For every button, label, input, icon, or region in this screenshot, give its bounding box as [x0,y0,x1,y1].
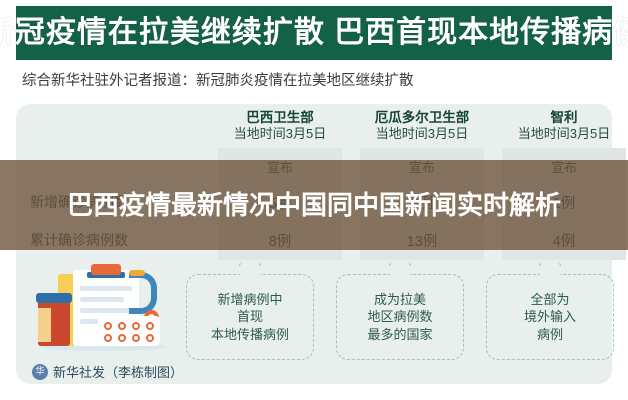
pill-icon [146,334,154,342]
pill-icon [104,322,112,330]
page-title: 新冠疫情在拉美继续扩散 巴西首现本地传播病例 [0,18,628,48]
column-header-name: 巴西卫生部 [205,110,355,126]
bubble-pointer [239,262,261,276]
callout-text: 成为拉美 地区病例数 最多的国家 [337,275,463,359]
overlay-banner: 巴西疫情最新情况中国同中国新闻实时解析 [0,160,628,250]
pill-icon [132,334,140,342]
column-header-name: 厄瓜多尔卫生部 [347,110,497,126]
table-column-header: 智利 当地时间3月5日 [489,110,628,141]
pill-icon [146,322,154,330]
credit-line: 华 新华社发（李栋制图） [32,362,183,381]
bubble-pointer-edge-right [553,262,561,270]
pill-icon [118,322,126,330]
callout-line: 地区病例数 [367,308,432,326]
column-header-date: 当地时间3月5日 [347,126,497,141]
pill-bottle-label [38,308,51,342]
bubble-pointer-edge-right [403,262,411,270]
table-column-header: 厄瓜多尔卫生部 当地时间3月5日 [347,110,497,141]
medical-supplies-icon [28,268,178,360]
callout-bubble: 新增病例中 首现 本地传播病例 [186,274,314,360]
clipboard-text-line [80,297,124,302]
table-header-row: 巴西卫生部 当地时间3月5日 厄瓜多尔卫生部 当地时间3月5日 智利 当地时间3… [16,110,612,152]
pill-icon [132,322,140,330]
callout-text: 新增病例中 首现 本地传播病例 [187,275,313,359]
table-column-header: 巴西卫生部 当地时间3月5日 [205,110,355,141]
pill-icon [118,334,126,342]
callout-line: 最多的国家 [367,326,432,344]
credit-text: 新华社发（李栋制图） [53,362,183,381]
pill-icon [104,334,112,342]
callout-line: 病例 [537,326,563,344]
bubble-pointer-edge-left [389,262,397,270]
column-header-date: 当地时间3月5日 [489,126,628,141]
bubble-pointer-edge-left [239,262,247,270]
bubble-pointer [539,262,561,276]
callout-bubble: 全部为 境外输入 病例 [486,274,614,360]
callout-text: 全部为 境外输入 病例 [487,275,613,359]
callout-line: 成为拉美 [374,291,426,309]
stethoscope-icon [129,272,157,314]
xinhua-logo-icon: 华 [32,364,48,380]
callout-line: 全部为 [530,291,569,309]
stethoscope-arm [129,270,145,276]
title-banner: 新冠疫情在拉美继续扩散 巴西首现本地传播病例 [16,6,612,60]
callout-bubble: 成为拉美 地区病例数 最多的国家 [336,274,464,360]
clipboard-clip-icon [91,264,121,275]
bubble-pointer [389,262,411,276]
callout-line: 本地传播病例 [211,326,289,344]
callout-line: 新增病例中 [217,291,282,309]
overlay-title: 巴西疫情最新情况中国同中国新闻实时解析 [32,190,596,221]
clipboard-text-line [80,286,132,291]
subtitle-text: 综合新华社驻外记者报道：新冠肺炎疫情在拉美地区继续扩散 [22,74,612,90]
callout-line: 境外输入 [524,308,576,326]
column-header-name: 智利 [489,110,628,126]
clipboard-text-line [80,308,130,313]
bubble-pointer-edge-right [253,262,261,270]
callout-line: 首现 [237,308,263,326]
bubble-pointer-edge-left [539,262,547,270]
poster-root: 新冠疫情在拉美继续扩散 巴西首现本地传播病例 综合新华社驻外记者报道：新冠肺炎疫… [0,0,628,400]
column-header-date: 当地时间3月5日 [205,126,355,141]
pill-bottle-cap [36,293,72,303]
